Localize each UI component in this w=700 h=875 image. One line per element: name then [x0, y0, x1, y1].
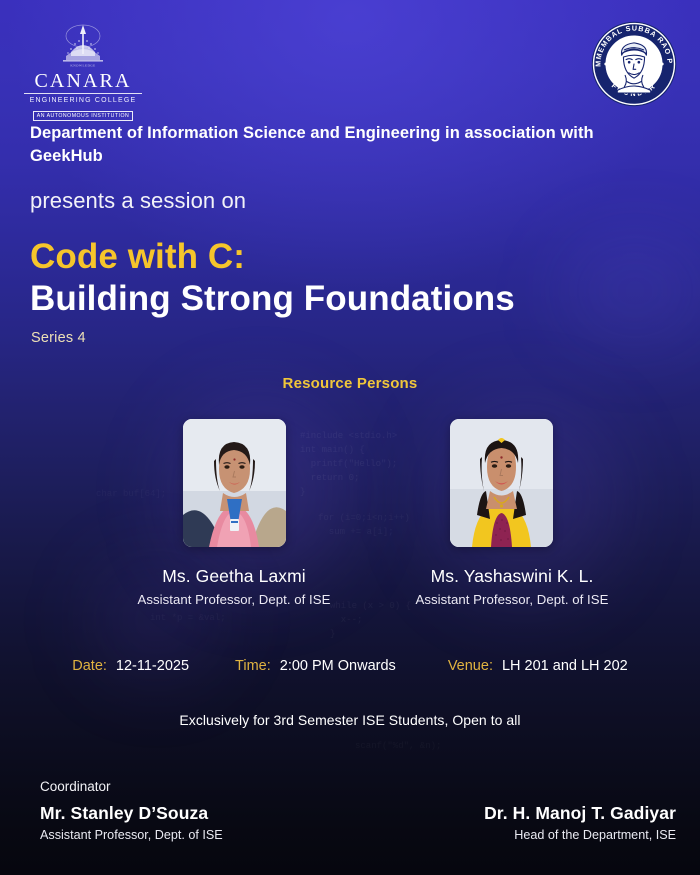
event-title-line1: Code with C:: [30, 238, 245, 277]
event-details-row: Date: 12-11-2025 Time: 2:00 PM Onwards V…: [0, 658, 700, 674]
series-label: Series 4: [31, 330, 86, 346]
glow-blob: [560, 236, 700, 346]
code-watermark: for (i=0;i<n;i++) sum += a[i];: [318, 512, 410, 540]
event-time: Time: 2:00 PM Onwards: [235, 658, 396, 674]
coordinator-name: Mr. Stanley D’Souza: [40, 803, 208, 824]
eligibility-note: Exclusively for 3rd Semester ISE Student…: [0, 712, 700, 728]
venue-label: Venue:: [448, 658, 493, 674]
code-watermark: scanf("%d", &n);: [355, 740, 441, 754]
resource-person-role: Assistant Professor, Dept. of ISE: [84, 592, 384, 607]
venue-value: LH 201 and LH 202: [502, 658, 628, 674]
event-title-line2: Building Strong Foundations: [30, 280, 515, 319]
resource-person-name: Ms. Yashaswini K. L.: [362, 566, 662, 587]
date-value: 12-11-2025: [116, 658, 189, 674]
resource-person-name: Ms. Geetha Laxmi: [84, 566, 384, 587]
code-watermark: #include <stdio.h> int main() { printf("…: [300, 430, 397, 500]
coordinator-title: Coordinator: [40, 779, 111, 794]
resource-persons-heading: Resource Persons: [0, 375, 700, 392]
coordinator-role: Assistant Professor, Dept. of ISE: [40, 828, 223, 842]
svg-text:KNOWLEDGE: KNOWLEDGE: [70, 64, 95, 68]
founder-seal-icon: AMMEMBAL SUBBA RAO PAI FOUNDER: [590, 20, 678, 108]
code-watermark: int *p = &val;: [150, 612, 226, 626]
hod-name: Dr. H. Manoj T. Gadiyar: [484, 803, 676, 824]
date-label: Date:: [72, 658, 107, 674]
resource-person-role: Assistant Professor, Dept. of ISE: [362, 592, 662, 607]
portrait-yashaswini-kl-image: [450, 419, 553, 547]
department-line: Department of Information Science and En…: [30, 122, 630, 169]
event-date: Date: 12-11-2025: [72, 658, 189, 674]
time-value: 2:00 PM Onwards: [280, 658, 396, 674]
event-poster: #include <stdio.h> int main() { printf("…: [0, 0, 700, 875]
autonomous-badge: AN AUTONOMOUS INSTITUTION: [33, 111, 134, 122]
resource-person-photo: [450, 419, 553, 547]
college-name: CANARA: [24, 71, 142, 94]
college-logo: KNOWLEDGE CANARA ENGINEERING COLLEGE AN …: [24, 22, 142, 122]
event-venue: Venue: LH 201 and LH 202: [448, 658, 628, 674]
hod-role: Head of the Department, ISE: [514, 828, 676, 842]
college-subtitle: ENGINEERING COLLEGE: [24, 97, 142, 104]
time-label: Time:: [235, 658, 271, 674]
code-watermark: char buf[64];: [96, 488, 166, 502]
portrait-geetha-laxmi-image: [183, 419, 286, 547]
presents-line: presents a session on: [30, 188, 246, 214]
college-crest-icon: KNOWLEDGE: [24, 22, 142, 70]
resource-person-photo: [183, 419, 286, 547]
